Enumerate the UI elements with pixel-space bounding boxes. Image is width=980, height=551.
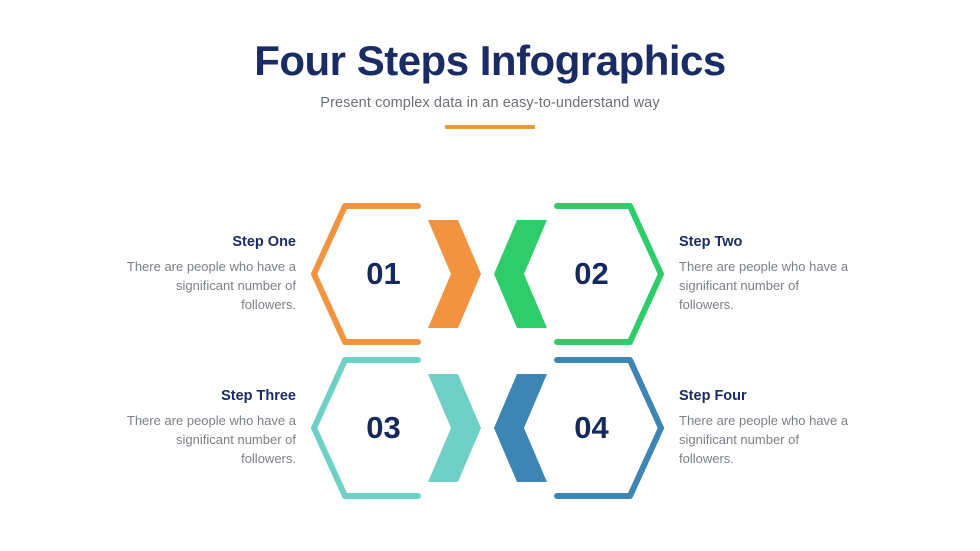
- hexagon-outline-left-icon: [490, 348, 665, 508]
- step-description-01: There are people who have a significant …: [118, 257, 296, 315]
- infographic-slide: Four Steps Infographics Present complex …: [0, 0, 980, 551]
- hexagon-outline-left-icon: [490, 194, 665, 354]
- page-subtitle: Present complex data in an easy-to-under…: [0, 95, 980, 111]
- page-title: Four Steps Infographics: [0, 38, 980, 83]
- step-text-03: Step Three There are people who have a s…: [118, 388, 310, 469]
- hexagon-path-01: [314, 206, 418, 342]
- chevron-right-icon-01: [428, 220, 481, 328]
- step-text-02: Step Two There are people who have a sig…: [665, 234, 857, 315]
- step-description-04: There are people who have a significant …: [679, 411, 857, 469]
- hexagon-outline-right-icon: [310, 348, 485, 508]
- chevron-left-icon-02: [494, 220, 547, 328]
- step-description-02: There are people who have a significant …: [679, 257, 857, 315]
- step-card-01[interactable]: Step One There are people who have a sig…: [118, 194, 485, 354]
- step-title-01: Step One: [118, 234, 296, 250]
- step-card-02[interactable]: 02 Step Two There are people who have a …: [490, 194, 857, 354]
- hexagon-path-02: [557, 206, 661, 342]
- step-hexagon-01[interactable]: 01: [310, 194, 485, 354]
- step-card-04[interactable]: 04 Step Four There are people who have a…: [490, 348, 857, 508]
- step-hexagon-03[interactable]: 03: [310, 348, 485, 508]
- step-title-02: Step Two: [679, 234, 857, 250]
- slide-header: Four Steps Infographics Present complex …: [0, 38, 980, 129]
- hexagon-outline-right-icon: [310, 194, 485, 354]
- step-title-03: Step Three: [118, 388, 296, 404]
- step-description-03: There are people who have a significant …: [118, 411, 296, 469]
- step-title-04: Step Four: [679, 388, 857, 404]
- steps-container: Step One There are people who have a sig…: [0, 186, 980, 526]
- chevron-left-icon-04: [494, 374, 547, 482]
- hexagon-path-04: [557, 360, 661, 496]
- step-text-04: Step Four There are people who have a si…: [665, 388, 857, 469]
- step-hexagon-04[interactable]: 04: [490, 348, 665, 508]
- title-divider: [445, 125, 535, 129]
- step-text-01: Step One There are people who have a sig…: [118, 234, 310, 315]
- step-card-03[interactable]: Step Three There are people who have a s…: [118, 348, 485, 508]
- chevron-right-icon-03: [428, 374, 481, 482]
- hexagon-path-03: [314, 360, 418, 496]
- step-hexagon-02[interactable]: 02: [490, 194, 665, 354]
